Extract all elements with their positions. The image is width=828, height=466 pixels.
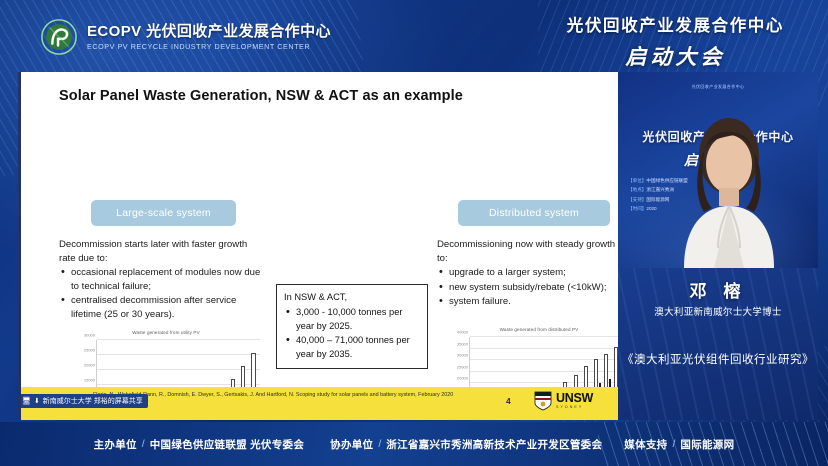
sponsor-label: 协办单位 xyxy=(330,437,373,452)
top-header: ECOPV 光伏回收产业发展合作中心 ECOPV PV RECYCLE INDU… xyxy=(0,0,828,70)
slide-page-number: 4 xyxy=(506,396,511,406)
sponsor-label: 媒体支持 xyxy=(624,437,667,452)
sponsor-group-coorganizer: 协办单位 / 浙江省嘉兴市秀洲高新技术产业开发区管委会 xyxy=(330,437,602,452)
video-meta-key: 【时间】 xyxy=(628,206,646,211)
sponsor-label: 主办单位 xyxy=(94,437,137,452)
unsw-shield-icon xyxy=(533,391,553,411)
screen-share-label: 新南威尔士大学 郑裕的屏幕共享 xyxy=(43,396,143,406)
speaker-video-tile[interactable]: 光伏回收产业发展合作中心 光伏回收产业发展合作中心 启动大会 【单位】中国绿色供… xyxy=(618,72,818,268)
list-item: new system subsidy/rebate (<10kW); xyxy=(437,281,618,295)
list-item: 3,000 - 10,000 tonnes per year by 2025. xyxy=(284,306,420,333)
event-title-sub: 启动大会 xyxy=(567,41,784,71)
unsw-wordmark: UNSW xyxy=(556,392,593,405)
speaker-panel: 光伏回收产业发展合作中心 光伏回收产业发展合作中心 启动大会 【单位】中国绿色供… xyxy=(618,72,818,420)
left-column-lead: Decommission starts later with faster gr… xyxy=(59,238,264,265)
event-title-block: 光伏回收产业发展合作中心 启动大会 xyxy=(567,12,784,71)
citation-text: Florin, N., Wakefield-Rann, R., Domnish,… xyxy=(93,391,463,399)
chart-y-tick-label: 25000 xyxy=(84,347,95,352)
chart-title: Waste generated from utility PV xyxy=(66,330,266,335)
sponsor-separator: / xyxy=(142,438,145,450)
section-pill-distributed: Distributed system xyxy=(458,200,610,226)
list-item: system failure. xyxy=(437,295,618,309)
ecopv-logo-icon xyxy=(40,18,78,56)
slide-title: Solar Panel Waste Generation, NSW & ACT … xyxy=(59,88,463,104)
list-item: 40,000 – 71,000 tonnes per year by 2035. xyxy=(284,334,420,361)
sponsor-value: 中国绿色供应链联盟 光伏专委会 xyxy=(150,437,304,452)
callout-lead: In NSW & ACT, xyxy=(284,291,420,304)
chart-y-tick-label: 30000 xyxy=(84,333,95,338)
right-column-bullets: upgrade to a larger system; new system s… xyxy=(437,266,618,309)
screen-share-indicator: 🖥 ⬇ 新南威尔士大学 郑裕的屏幕共享 xyxy=(18,394,148,408)
section-pill-large-scale: Large-scale system xyxy=(91,200,236,226)
chart-y-tick-label: 25000 xyxy=(457,364,468,369)
right-column-text: Decommissioning now with steady growth d… xyxy=(437,238,618,309)
sponsor-separator: / xyxy=(672,438,675,450)
callout-box: In NSW & ACT, 3,000 - 10,000 tonnes per … xyxy=(276,284,428,369)
callout-bullets: 3,000 - 10,000 tonnes per year by 2025. … xyxy=(284,306,420,361)
download-arrow-icon: ⬇ xyxy=(34,398,40,405)
talk-topic: 《澳大利亚光伏组件回收行业研究》 xyxy=(618,350,818,370)
left-column-bullets: occasional replacement of modules now du… xyxy=(59,266,264,321)
brand-lockup: ECOPV 光伏回收产业发展合作中心 ECOPV PV RECYCLE INDU… xyxy=(40,18,331,56)
list-item: centralised decommission after service l… xyxy=(59,294,264,321)
left-column-text: Decommission starts later with faster gr… xyxy=(59,238,264,322)
speaker-name: 邓 榕 xyxy=(618,277,818,302)
video-meta-key: 【单位】 xyxy=(628,178,646,183)
speaker-title: 澳大利亚新南威尔士大学博士 xyxy=(618,304,818,318)
video-meta-value: 2020 xyxy=(646,206,656,211)
chart-y-tick-label: 15000 xyxy=(84,377,95,382)
sponsor-value: 国际能源网 xyxy=(680,437,734,452)
sponsor-separator: / xyxy=(378,438,381,450)
list-item: occasional replacement of modules now du… xyxy=(59,266,264,293)
chart-y-tick-label: 40000 xyxy=(457,330,468,335)
right-column-lead: Decommissioning now with steady growth d… xyxy=(437,238,618,265)
video-meta-key: 【支持】 xyxy=(628,197,646,202)
video-meta-key: 【地点】 xyxy=(628,187,646,192)
list-item: upgrade to a larger system; xyxy=(437,266,618,280)
brand-title-cn: ECOPV 光伏回收产业发展合作中心 xyxy=(87,23,331,40)
sponsor-group-organizer: 主办单位 / 中国绿色供应链联盟 光伏专委会 xyxy=(94,437,305,452)
sponsor-group-media: 媒体支持 / 国际能源网 xyxy=(624,437,734,452)
bottom-sponsor-banner: 主办单位 / 中国绿色供应链联盟 光伏专委会 协办单位 / 浙江省嘉兴市秀洲高新… xyxy=(0,422,828,466)
speaker-avatar xyxy=(674,108,784,268)
chart-y-tick-label: 20000 xyxy=(84,362,95,367)
unsw-logo: UNSW SYDNEY xyxy=(533,391,593,411)
event-title-main: 光伏回收产业发展合作中心 xyxy=(567,12,784,36)
sponsor-value: 浙江省嘉兴市秀洲高新技术产业开发区管委会 xyxy=(386,437,602,452)
video-meta-value: 国际能源网 xyxy=(646,197,669,202)
video-meta-value: 浙江嘉兴秀洲 xyxy=(646,187,674,192)
chart-y-tick-label: 35000 xyxy=(457,341,468,346)
shared-slide-area[interactable]: Solar Panel Waste Generation, NSW & ACT … xyxy=(18,72,618,420)
video-overlay-tiny-title: 光伏回收产业发展合作中心 xyxy=(618,84,818,90)
chart-y-tick-label: 30000 xyxy=(457,353,468,358)
chart-y-tick-label: 20000 xyxy=(457,376,468,381)
brand-title-en: ECOPV PV RECYCLE INDUSTRY DEVELOPMENT CE… xyxy=(87,43,331,51)
unsw-city-label: SYDNEY xyxy=(556,406,593,410)
monitor-icon: 🖥 xyxy=(22,398,31,405)
